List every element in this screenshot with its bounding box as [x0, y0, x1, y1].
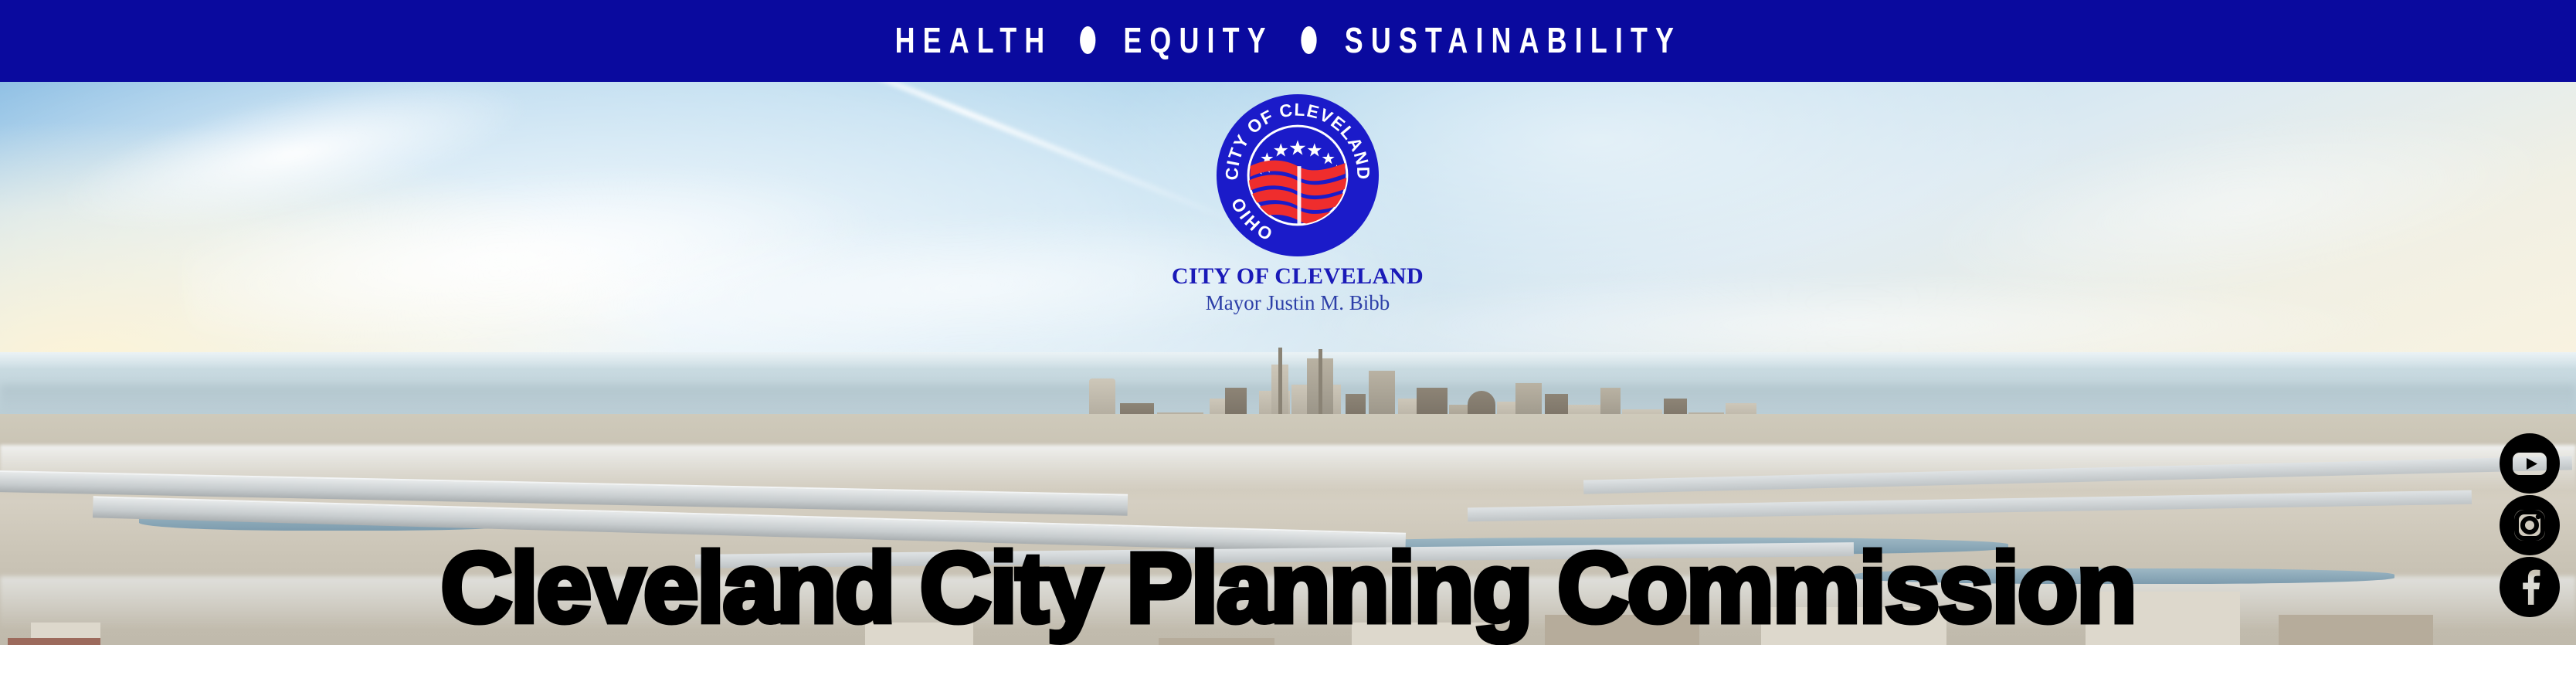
youtube-link[interactable]	[2500, 433, 2560, 494]
page-title: Cleveland City Planning Commission	[0, 539, 2576, 638]
tagline-word-sustainability: SUSTAINABILITY	[1344, 19, 1681, 61]
facebook-link[interactable]	[2500, 557, 2560, 617]
city-of-cleveland-ohio-seal: CITY OF CLEVELAND OHIO	[1213, 91, 1382, 260]
building-block	[8, 638, 100, 645]
tagline-word-equity: EQUITY	[1123, 19, 1273, 61]
bullet-dot-icon	[1301, 26, 1316, 54]
tagline-banner: HEALTH EQUITY SUSTAINABILITY	[0, 0, 2576, 82]
tagline-word-health: HEALTH	[894, 19, 1052, 61]
logo-subtitle: Mayor Justin M. Bibb	[1159, 292, 1437, 314]
social-links	[2500, 433, 2561, 619]
hero-photo: CITY OF CLEVELAND OHIO	[0, 82, 2576, 645]
tagline-text: HEALTH EQUITY SUSTAINABILITY	[894, 19, 1681, 61]
instagram-link[interactable]	[2500, 495, 2560, 555]
page-root: HEALTH EQUITY SUSTAINABILITY	[0, 0, 2576, 682]
logo-title: CITY OF CLEVELAND	[1159, 264, 1437, 289]
bullet-dot-icon	[1080, 26, 1095, 54]
city-logo: CITY OF CLEVELAND OHIO	[1159, 91, 1437, 323]
facebook-icon	[2500, 557, 2560, 617]
